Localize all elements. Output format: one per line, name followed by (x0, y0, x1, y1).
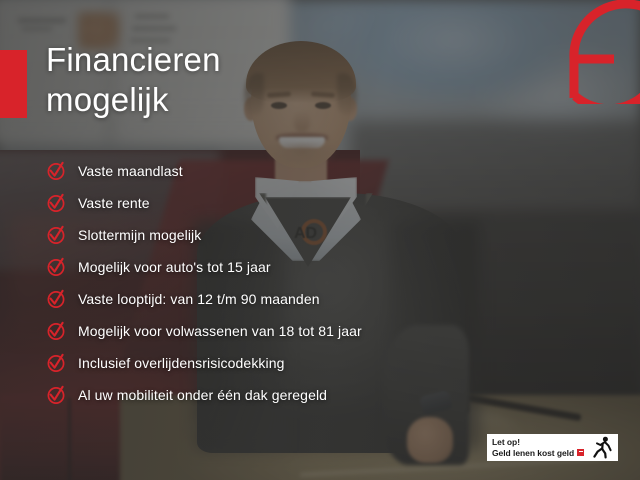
financing-promo-banner: AD Financieren mogelijk (0, 0, 640, 480)
list-item: Vaste looptijd: van 12 t/m 90 maanden (46, 283, 606, 315)
list-item-label: Mogelijk voor auto's tot 15 jaar (78, 259, 271, 275)
warning-badge-line2-row: Geld lenen kost geld (492, 448, 591, 459)
circular-arrow-icon (552, 0, 640, 104)
list-item-label: Inclusief overlijdensrisicodekking (78, 355, 285, 371)
page-title: Financieren mogelijk (46, 40, 426, 120)
list-item: Vaste rente (46, 187, 606, 219)
warning-badge-line1: Let op! (492, 437, 591, 448)
list-item-label: Vaste maandlast (78, 163, 183, 179)
list-item: Mogelijk voor auto's tot 15 jaar (46, 251, 606, 283)
check-circle-icon (46, 385, 66, 405)
warning-badge: Let op! Geld lenen kost geld (487, 434, 618, 461)
list-item-label: Al uw mobiliteit onder één dak geregeld (78, 387, 327, 403)
list-item: Al uw mobiliteit onder één dak geregeld (46, 379, 606, 411)
check-circle-icon (46, 321, 66, 341)
list-item: Inclusief overlijdensrisicodekking (46, 347, 606, 379)
check-circle-icon (46, 289, 66, 309)
check-circle-icon (46, 161, 66, 181)
list-item-label: Mogelijk voor volwassenen van 18 tot 81 … (78, 323, 362, 339)
red-card-icon (577, 449, 584, 456)
check-circle-icon (46, 193, 66, 213)
check-circle-icon (46, 257, 66, 277)
list-item-label: Vaste looptijd: van 12 t/m 90 maanden (78, 291, 320, 307)
red-accent-rectangle (0, 50, 27, 118)
check-circle-icon (46, 353, 66, 373)
running-man-icon (592, 436, 613, 459)
list-item: Slottermijn mogelijk (46, 219, 606, 251)
list-item-label: Vaste rente (78, 195, 150, 211)
warning-badge-line2: Geld lenen kost geld (492, 448, 574, 459)
warning-badge-text: Let op! Geld lenen kost geld (492, 437, 591, 458)
list-item: Vaste maandlast (46, 155, 606, 187)
list-item: Mogelijk voor volwassenen van 18 tot 81 … (46, 315, 606, 347)
feature-list: Vaste maandlast Vaste rente Slottermijn … (46, 155, 606, 411)
check-circle-icon (46, 225, 66, 245)
list-item-label: Slottermijn mogelijk (78, 227, 201, 243)
